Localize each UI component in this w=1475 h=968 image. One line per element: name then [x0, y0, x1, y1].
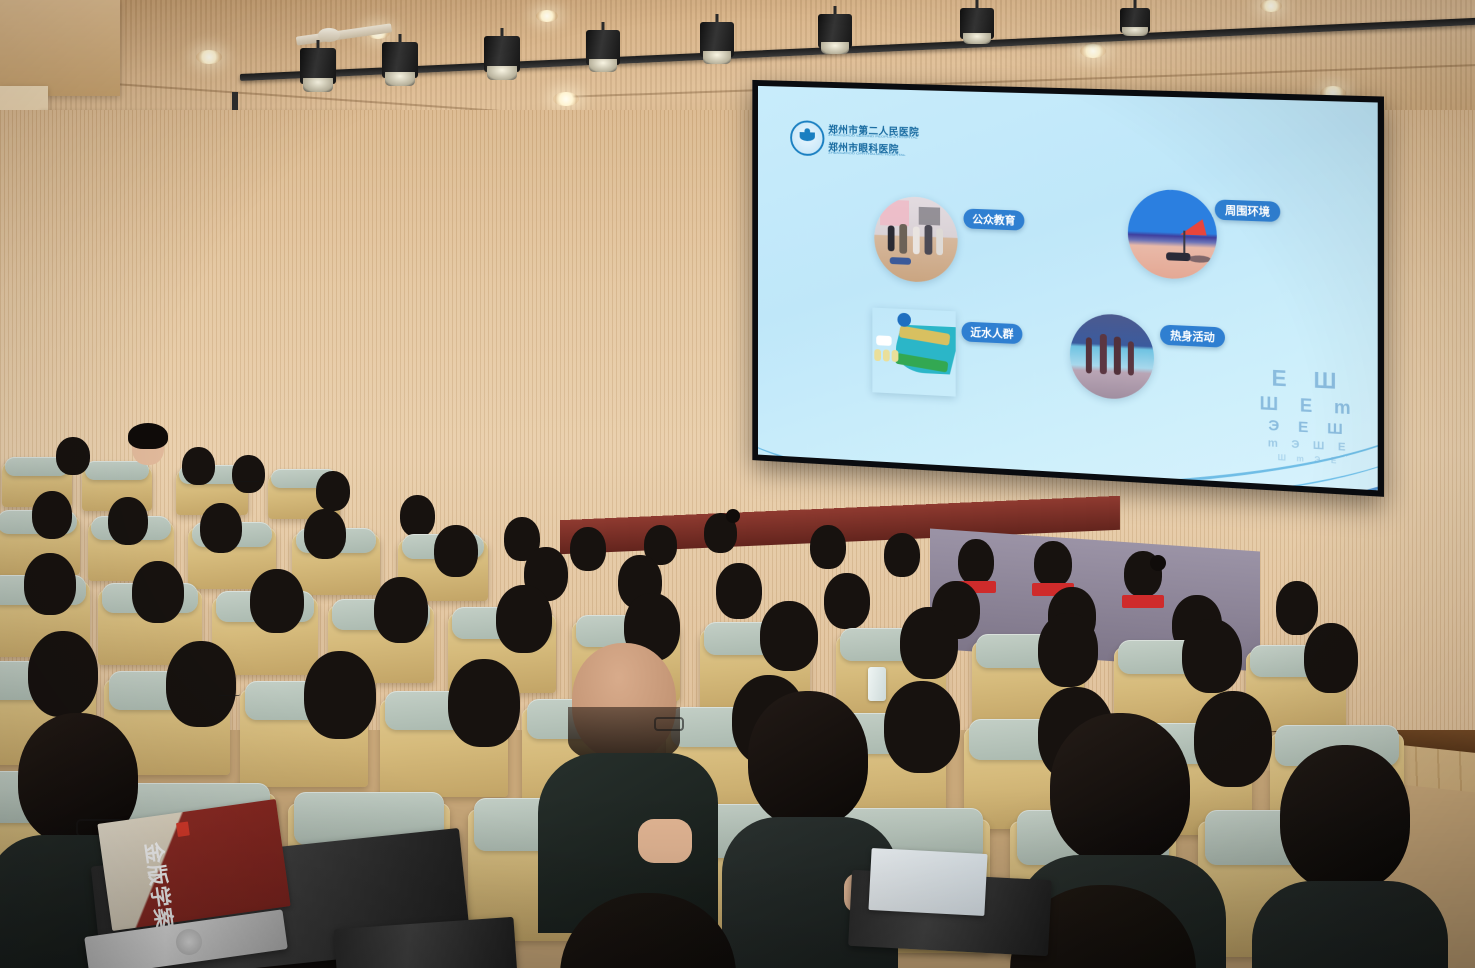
audience-member — [52, 437, 94, 481]
audience-member — [492, 585, 556, 665]
slide-image-waterside-crowd — [872, 308, 955, 397]
slide-label-warmup: 热身活动 — [1160, 325, 1225, 348]
audience-member — [370, 577, 432, 655]
audience-member-foreground — [744, 691, 874, 871]
downlight — [553, 92, 579, 106]
stage-light — [818, 6, 852, 54]
slide-image-environment — [1128, 188, 1217, 280]
stage-light — [1120, 0, 1150, 36]
audience-member — [128, 429, 168, 471]
downlight — [1260, 0, 1282, 12]
stage-light — [300, 40, 336, 92]
audience-area: 金版学案 — [0, 455, 1475, 968]
downlight — [536, 10, 558, 22]
stage-light — [960, 0, 994, 44]
eye-chart-watermark: E Ш Ш E m Э E Ш m Э Ш E Ш m Э E — [1260, 367, 1359, 467]
audience-member-foreground — [1276, 745, 1416, 945]
ceiling-soffit — [0, 0, 120, 96]
hand — [638, 819, 692, 863]
slide-label-waterside-crowd: 近水人群 — [962, 321, 1023, 344]
stage-light — [700, 14, 734, 64]
audience-member — [566, 527, 610, 577]
desk-pivot-knob — [176, 929, 202, 955]
slide-label-public-education: 公众教育 — [963, 208, 1024, 230]
audience-member — [20, 553, 80, 627]
audience-member — [104, 497, 152, 553]
stage-light — [586, 22, 620, 72]
audience-member-foreground — [560, 893, 740, 968]
hospital-logo-icon — [790, 120, 824, 156]
audience-member — [28, 491, 76, 547]
audience-member — [756, 601, 822, 683]
audience-member — [246, 569, 308, 645]
audience-member — [178, 447, 218, 491]
audience-member — [128, 561, 188, 635]
audience-member — [700, 513, 740, 559]
downlight — [196, 50, 222, 64]
audience-member — [880, 533, 924, 583]
audience-member — [880, 681, 966, 789]
audience-member-foreground — [568, 643, 684, 803]
projection-screen-assembly: 郑州市第二人民医院 ZHENGZHOU SECOND PEOPLE'S HOSP… — [752, 80, 1384, 497]
slide-label-environment: 周围环境 — [1215, 199, 1280, 222]
downlight — [1080, 44, 1106, 58]
paper-handout — [868, 848, 987, 916]
audience-member — [430, 525, 482, 587]
audience-member — [444, 659, 526, 763]
audience-member — [1300, 623, 1362, 705]
stage-light — [382, 34, 418, 86]
audience-member — [162, 641, 242, 741]
audience-member — [1120, 551, 1166, 605]
slide-image-public-education — [874, 195, 957, 283]
audience-member — [228, 455, 268, 499]
audience-member — [806, 525, 850, 575]
audience-member — [300, 509, 350, 567]
audience-member — [896, 607, 962, 691]
stage-light — [484, 28, 520, 80]
projection-screen: 郑州市第二人民医院 ZHENGZHOU SECOND PEOPLE'S HOSP… — [758, 86, 1378, 490]
audience-member — [196, 503, 246, 561]
auditorium-photo: 郑州市第二人民医院 ZHENGZHOU SECOND PEOPLE'S HOSP… — [0, 0, 1475, 968]
presentation-slide: 郑州市第二人民医院 ZHENGZHOU SECOND PEOPLE'S HOSP… — [758, 86, 1378, 490]
audience-member — [1190, 691, 1278, 803]
audience-member — [300, 651, 382, 755]
